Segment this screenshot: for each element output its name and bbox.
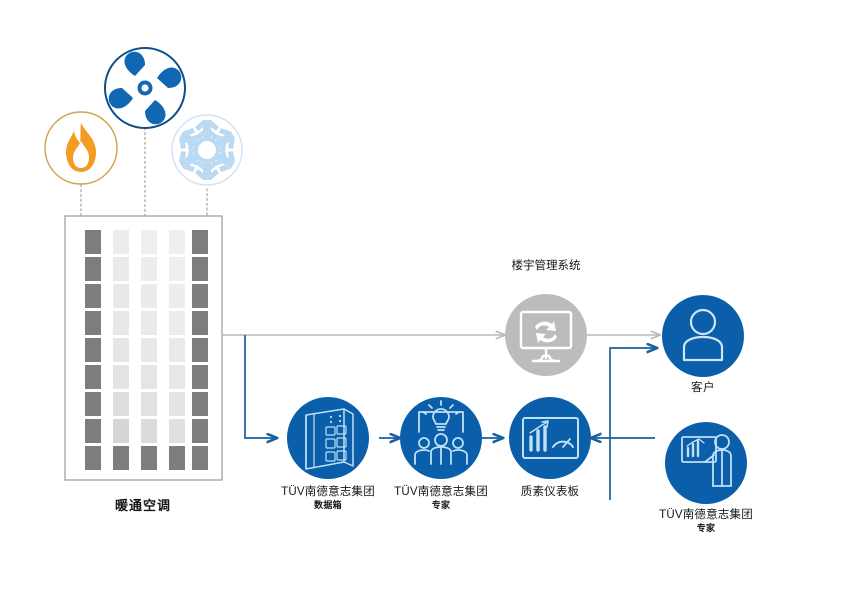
building-hvac xyxy=(65,216,222,480)
node-databox[interactable] xyxy=(287,397,369,479)
node-bms-circle xyxy=(505,294,587,376)
node-presenter[interactable] xyxy=(665,422,747,504)
node-databox-circle xyxy=(287,397,369,479)
node-cooling[interactable] xyxy=(172,115,242,185)
node-bms[interactable] xyxy=(505,294,587,376)
node-customer[interactable] xyxy=(662,295,744,377)
node-presenter-circle xyxy=(665,422,747,504)
node-ventilation[interactable] xyxy=(105,48,185,128)
node-dashboard[interactable] xyxy=(509,397,591,479)
node-heating[interactable] xyxy=(45,112,117,184)
hvac-flow-diagram: 楼宇管理系统 暖通空调 TÜV南德意志集团 数据箱 TÜV南德意志集团 专家 质… xyxy=(0,0,842,595)
diagram-canvas xyxy=(0,0,842,595)
connector-building-to-databox xyxy=(245,335,277,438)
connector-dashboard-to-customer xyxy=(610,348,657,500)
node-experts[interactable] xyxy=(400,397,482,479)
